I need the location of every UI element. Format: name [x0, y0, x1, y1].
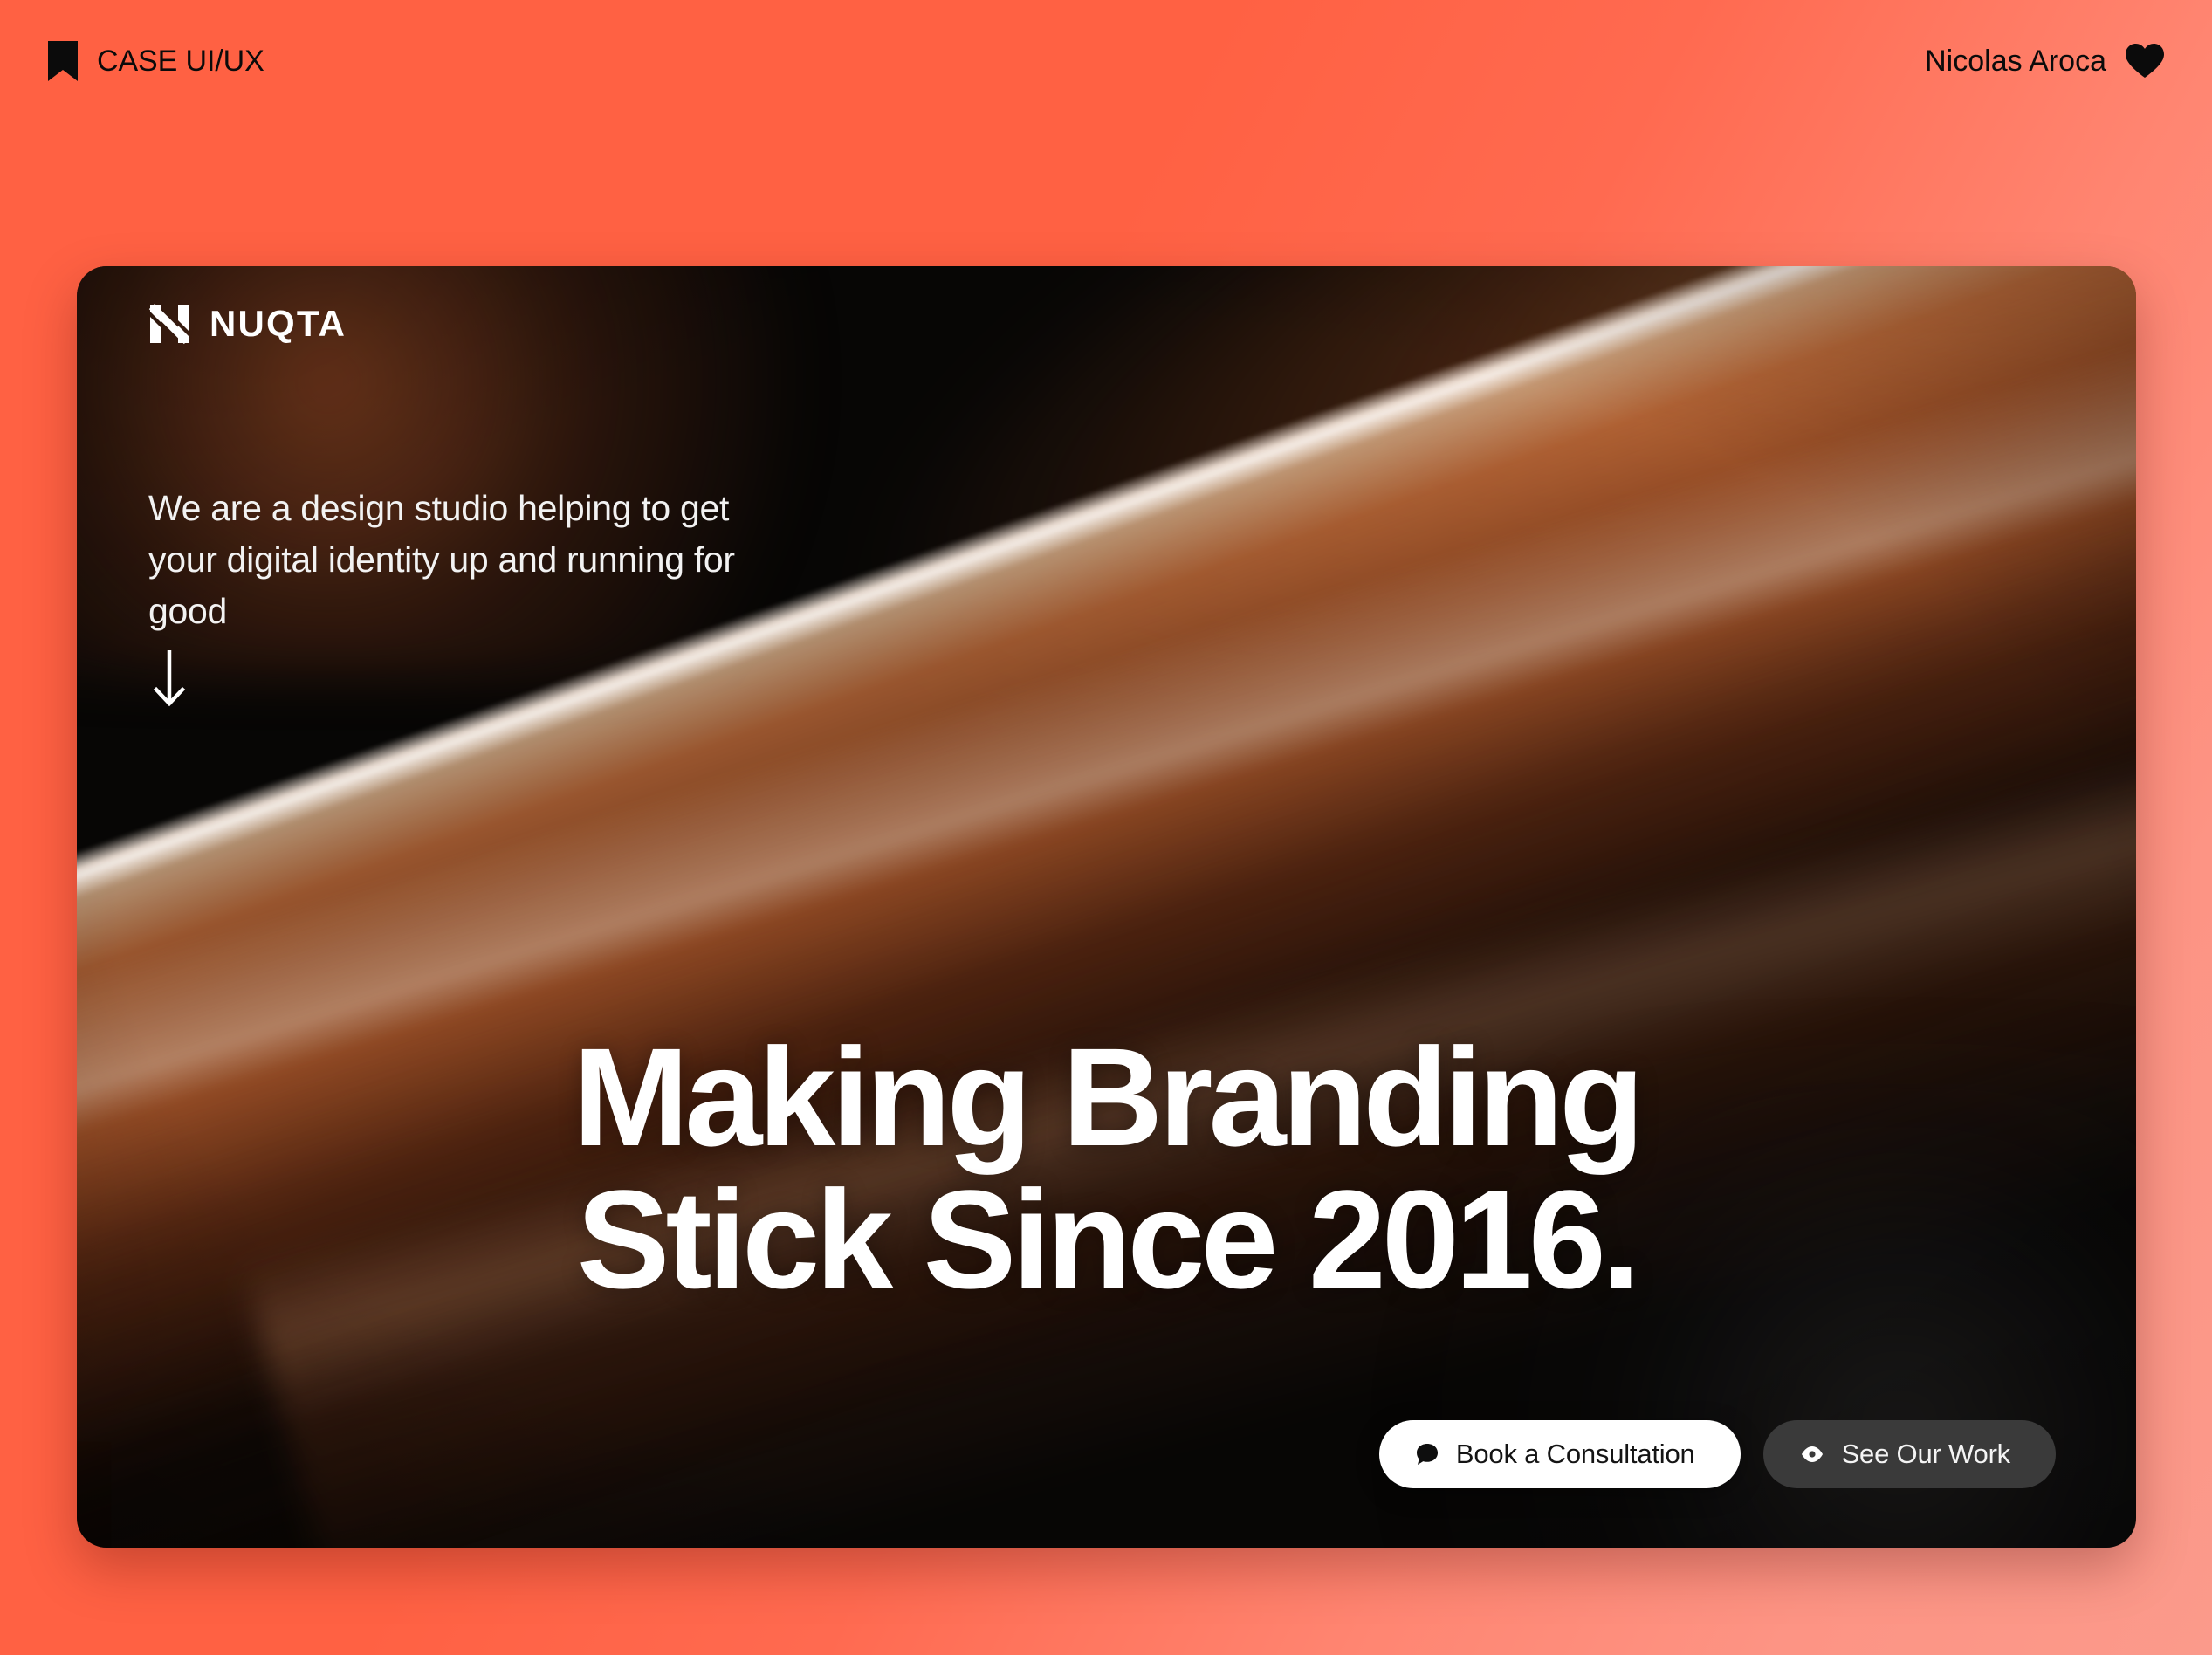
bookmark-icon — [48, 41, 78, 81]
headline-line-1: Making Branding — [112, 1026, 2101, 1168]
brand-left-group[interactable]: CASE UI/UX — [48, 41, 264, 81]
eye-icon — [1800, 1445, 1824, 1464]
chat-bubble-icon — [1416, 1443, 1439, 1466]
brand-label: CASE UI/UX — [97, 45, 264, 79]
hero-content: NUQTA We are a design studio helping to … — [77, 266, 2136, 1548]
book-consultation-button[interactable]: Book a Consultation — [1379, 1420, 1741, 1488]
nuqta-logo[interactable]: NUQTA — [148, 303, 347, 345]
see-our-work-button[interactable]: See Our Work — [1763, 1420, 2056, 1488]
page-title: Making Branding Stick Since 2016. — [77, 1026, 2136, 1310]
hero-card: NUQTA We are a design studio helping to … — [77, 266, 2136, 1548]
hero-tagline: We are a design studio helping to get yo… — [148, 483, 759, 637]
cta-group: Book a Consultation See Our Work — [1379, 1420, 2056, 1488]
see-our-work-label: See Our Work — [1842, 1439, 2010, 1470]
brand-right-group[interactable]: Nicolas Aroca — [1925, 44, 2164, 79]
heart-icon — [2126, 44, 2164, 79]
author-name: Nicolas Aroca — [1925, 45, 2106, 79]
headline-line-2: Stick Since 2016. — [112, 1168, 2101, 1310]
book-consultation-label: Book a Consultation — [1456, 1439, 1695, 1470]
top-bar: CASE UI/UX Nicolas Aroca — [0, 0, 2212, 122]
nuqta-wordmark: NUQTA — [210, 303, 347, 345]
nuqta-n-mark-icon — [148, 303, 190, 345]
